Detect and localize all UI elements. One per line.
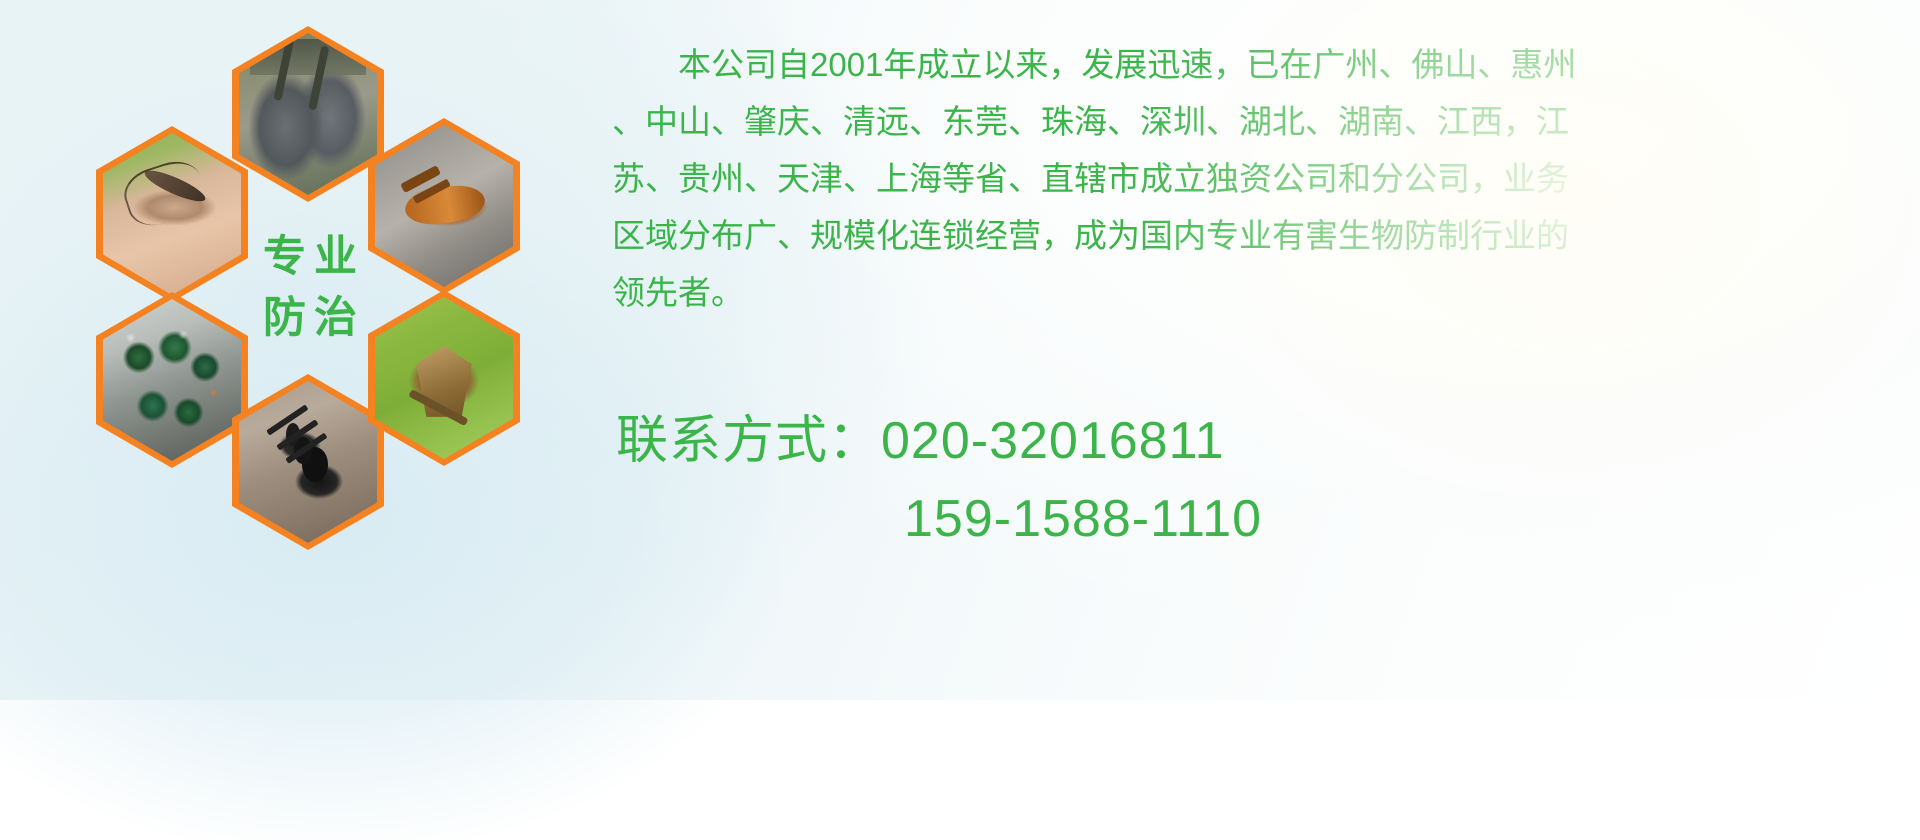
intro-line-2: 、中山、肇庆、清远、东莞、珠海、深圳、湖北、湖南、江西，江 — [612, 93, 1912, 150]
hex-image-stinkbug — [375, 297, 513, 459]
intro-line-1: 本公司自2001年成立以来，发展迅速，已在广州、佛山、惠州 — [612, 36, 1912, 93]
hex-image-mosquito — [103, 133, 241, 295]
hex-cell-ant — [232, 374, 384, 550]
hex-image-flies — [103, 299, 241, 461]
contact-phone-secondary[interactable]: 159-1588-1110 — [616, 480, 1906, 558]
hex-cell-cockroach — [368, 118, 520, 294]
hex-cell-flies — [96, 292, 248, 468]
contact-block: 联系方式：020-32016811 159-1588-1110 — [616, 402, 1906, 558]
honeycomb-label-line1: 专业 — [255, 236, 365, 279]
intro-line-4: 区域分布广、规模化连锁经营，成为国内专业有害生物防制行业的 — [612, 207, 1912, 264]
hex-image-cockroach — [375, 125, 513, 287]
honeycomb-label-line2: 防治 — [255, 297, 365, 340]
company-intro-paragraph: 本公司自2001年成立以来，发展迅速，已在广州、佛山、惠州 、中山、肇庆、清远、… — [612, 36, 1912, 321]
honeycomb-center-label: 专业 防治 — [246, 204, 374, 372]
hex-image-ant — [239, 381, 377, 543]
intro-line-5: 领先者。 — [612, 264, 1912, 321]
hex-image-rats — [239, 33, 377, 195]
intro-line-3: 苏、贵州、天津、上海等省、直辖市成立独资公司和分公司，业务 — [612, 150, 1912, 207]
promo-banner: 专业 防治 本公司自2001年成立以来，发展迅速，已在广州、佛山、惠州 、中山、… — [0, 0, 1920, 700]
hex-cell-rats — [232, 26, 384, 202]
hex-cell-mosquito — [96, 126, 248, 302]
contact-phone-primary[interactable]: 联系方式：020-32016811 — [616, 402, 1906, 480]
honeycomb-cluster: 专业 防治 — [96, 8, 586, 568]
hex-cell-stinkbug — [368, 290, 520, 466]
